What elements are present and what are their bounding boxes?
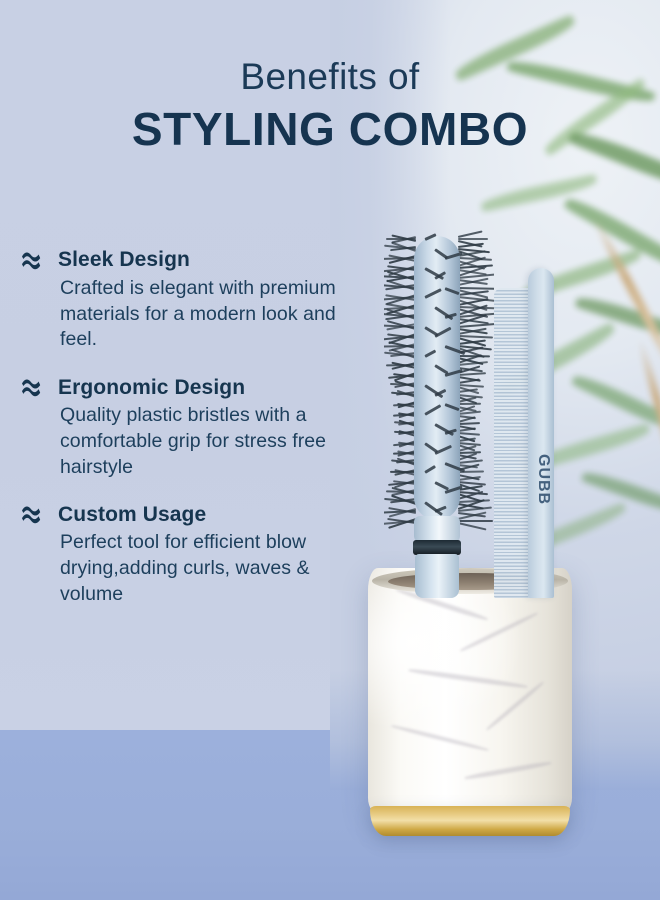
wave-icon — [20, 248, 48, 272]
poster-canvas: GUBB Benefits of STYLING COMBO Sleek Des… — [0, 0, 660, 900]
brush-handle — [415, 554, 459, 598]
benefit-title: Ergonomic Design — [58, 376, 245, 399]
benefit-title: Custom Usage — [58, 503, 206, 526]
marble-body — [368, 568, 572, 816]
benefits-list: Sleek Design Crafted is elegant with pre… — [20, 248, 360, 630]
benefit-title: Sleek Design — [58, 248, 190, 271]
benefit-description: Perfect tool for efficient blow drying,a… — [60, 530, 350, 607]
styling-comb: GUBB — [494, 268, 554, 598]
bristle — [424, 349, 436, 357]
bristle — [434, 445, 452, 455]
bristle — [424, 289, 441, 300]
marble-holder — [368, 568, 572, 838]
benefit-item: Sleek Design Crafted is elegant with pre… — [20, 248, 360, 353]
bristle — [424, 465, 436, 474]
bristle — [434, 327, 451, 338]
bristle — [444, 287, 459, 295]
wave-icon — [20, 375, 48, 399]
bristle — [444, 403, 459, 411]
title-block: Benefits of STYLING COMBO — [0, 58, 660, 153]
bristle — [445, 252, 463, 260]
benefit-heading-row: Custom Usage — [20, 502, 360, 526]
benefit-heading-row: Ergonomic Design — [20, 375, 360, 399]
benefit-description: Crafted is elegant with premium material… — [60, 276, 350, 353]
bristle — [444, 462, 465, 472]
comb-brand-label: GUBB — [530, 454, 552, 505]
page-title: STYLING COMBO — [0, 105, 660, 153]
comb-teeth — [494, 288, 532, 598]
bristle — [424, 404, 441, 416]
bristle — [444, 345, 465, 355]
comb-spine — [528, 268, 554, 598]
benefit-item: Custom Usage Perfect tool for efficient … — [20, 502, 360, 607]
holder-gold-band — [370, 806, 570, 836]
page-eyebrow: Benefits of — [0, 58, 660, 97]
benefit-item: Ergonomic Design Quality plastic bristle… — [20, 375, 360, 480]
brush-ring — [413, 540, 461, 555]
bristle — [424, 233, 436, 241]
brush-ferrule — [414, 516, 460, 542]
round-styling-brush — [384, 228, 494, 590]
benefit-heading-row: Sleek Design — [20, 248, 360, 272]
wave-icon — [20, 502, 48, 526]
benefit-description: Quality plastic bristles with a comforta… — [60, 403, 350, 480]
